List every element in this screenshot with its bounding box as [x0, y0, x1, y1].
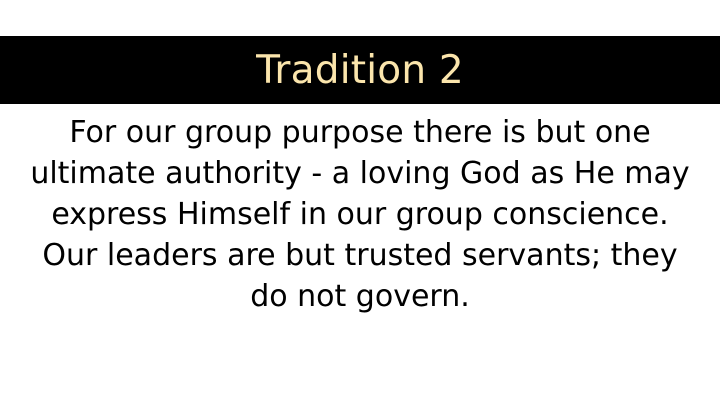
title-banner: Tradition 2 — [0, 36, 720, 104]
body-paragraph: For our group purpose there is but one u… — [30, 112, 690, 317]
body-text-block: For our group purpose there is but one u… — [30, 112, 690, 317]
page-title: Tradition 2 — [256, 51, 464, 90]
slide: Tradition 2 For our group purpose there … — [0, 0, 720, 405]
